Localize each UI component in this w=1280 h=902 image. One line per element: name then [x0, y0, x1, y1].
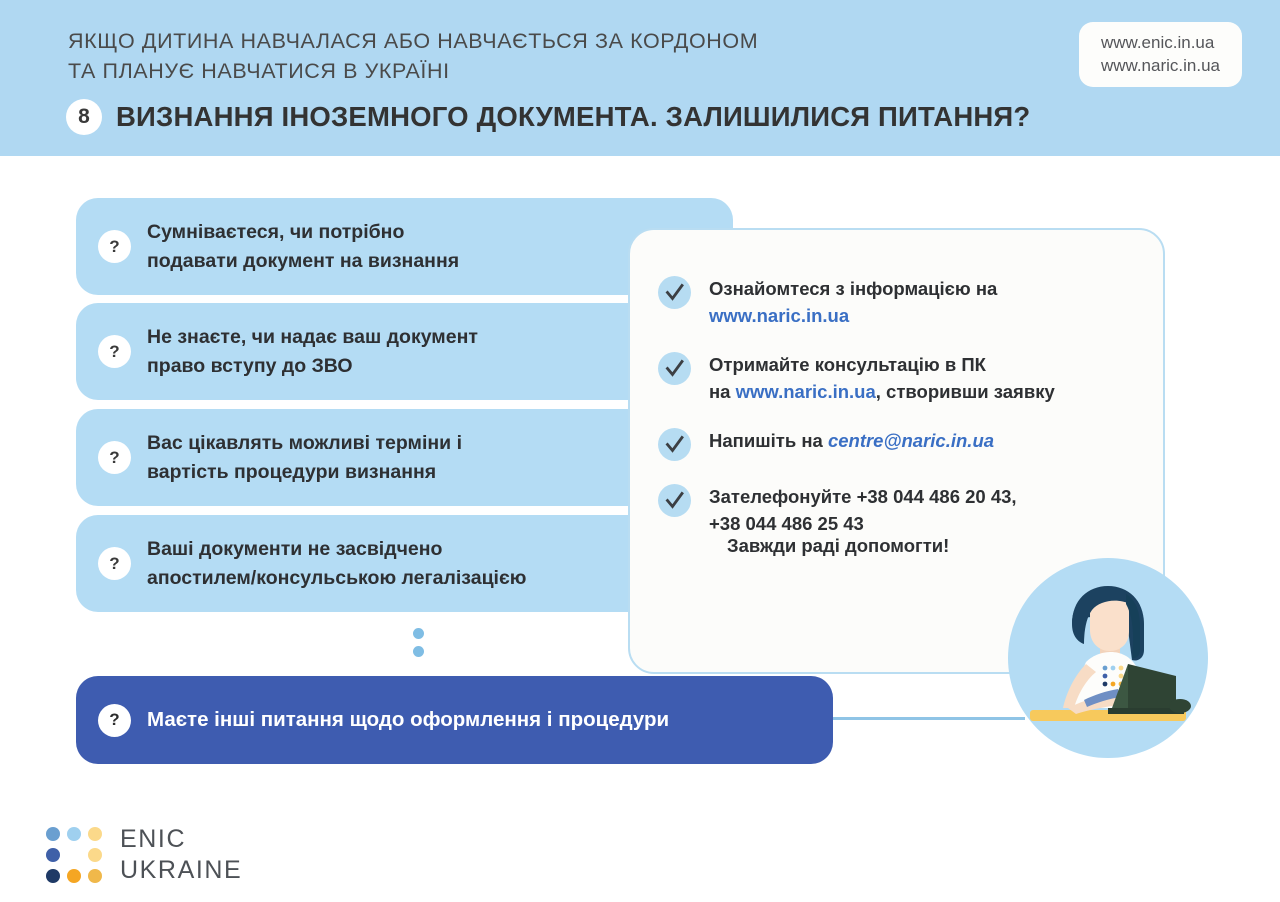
question-card-line-2: подавати документ на визнання [147, 247, 459, 276]
question-card-line-2: право вступу до ЗВО [147, 352, 478, 381]
question-card-line-1: Сумніваєтеся, чи потрібно [147, 218, 459, 247]
website-url-naric[interactable]: www.naric.in.ua [1101, 54, 1220, 77]
logo-dot [46, 827, 60, 841]
answer-item-text: Отримайте консультацію в ПК на www.naric… [709, 351, 1055, 405]
answer-list: Ознайомтеся з інформацією на www.naric.i… [658, 275, 1138, 559]
website-url-enic[interactable]: www.enic.in.ua [1101, 31, 1220, 54]
answer-item-text: Зателефонуйте +38 044 486 20 43, +38 044… [709, 483, 1017, 537]
answer-line-2-suffix: , створивши заявку [876, 381, 1055, 402]
logo-dot [88, 848, 102, 862]
logo-dot-grid-icon [46, 827, 102, 883]
answer-line-1: Зателефонуйте +38 044 486 20 43, [709, 483, 1017, 510]
question-mark-icon: ? [98, 441, 131, 474]
answer-link[interactable]: www.naric.in.ua [736, 381, 876, 402]
answer-link[interactable]: www.naric.in.ua [709, 305, 849, 326]
answer-item: Ознайомтеся з інформацією на www.naric.i… [658, 275, 1138, 329]
logo-dot [88, 827, 102, 841]
header-kicker-line-1: ЯКЩО ДИТИНА НАВЧАЛАСЯ АБО НАВЧАЄТЬСЯ ЗА … [68, 26, 968, 56]
logo-dot [67, 869, 81, 883]
answer-item: Зателефонуйте +38 044 486 20 43, +38 044… [658, 483, 1138, 537]
logo-text-line-2: UKRAINE [120, 855, 242, 886]
check-icon [658, 352, 691, 385]
question-mark-icon: ? [98, 230, 131, 263]
answer-line-2: на www.naric.in.ua, створивши заявку [709, 378, 1055, 405]
question-card-line-2: апостилем/консульською легалізацією [147, 564, 526, 593]
question-card-line-1: Не знаєте, чи надає ваш документ [147, 323, 478, 352]
check-icon [658, 484, 691, 517]
answer-item-text: Напишіть на centre@naric.in.ua [709, 427, 994, 454]
logo-dot [67, 827, 81, 841]
enic-ukraine-logo: ENIC UKRAINE [46, 824, 242, 886]
header-kicker: ЯКЩО ДИТИНА НАВЧАЛАСЯ АБО НАВЧАЄТЬСЯ ЗА … [68, 26, 968, 86]
logo-dot [67, 848, 81, 862]
highlighted-question-text: Маєте інші питання щодо оформлення і про… [147, 708, 669, 732]
ellipsis-dot-icon [413, 646, 424, 657]
title-row: 8 ВИЗНАННЯ ІНОЗЕМНОГО ДОКУМЕНТА. ЗАЛИШИЛ… [66, 99, 1030, 135]
logo-dot [46, 848, 60, 862]
closing-message: Завжди раді допомогти! [727, 535, 949, 557]
question-card-text: Вас цікавлять можливі терміни і вартість… [147, 429, 462, 487]
logo-dot [46, 869, 60, 883]
header-kicker-line-2: ТА ПЛАНУЄ НАВЧАТИСЯ В УКРАЇНІ [68, 56, 968, 86]
page-title: ВИЗНАННЯ ІНОЗЕМНОГО ДОКУМЕНТА. ЗАЛИШИЛИС… [116, 101, 1030, 133]
ellipsis-dot-icon [413, 628, 424, 639]
answer-item: Напишіть на centre@naric.in.ua [658, 427, 1138, 461]
website-badge[interactable]: www.enic.in.ua www.naric.in.ua [1079, 22, 1242, 87]
highlighted-question-card[interactable]: ? Маєте інші питання щодо оформлення і п… [76, 676, 833, 764]
question-card-text: Ваші документи не засвідчено апостилем/к… [147, 535, 526, 593]
infographic-page: ЯКЩО ДИТИНА НАВЧАЛАСЯ АБО НАВЧАЄТЬСЯ ЗА … [0, 0, 1280, 902]
logo-dot [88, 869, 102, 883]
woman-with-laptop-illustration [1008, 558, 1208, 758]
question-card-line-2: вартість процедури визнання [147, 458, 462, 487]
logo-text-line-1: ENIC [120, 824, 242, 855]
answer-line-1: Ознайомтеся з інформацією на [709, 275, 997, 302]
page-header: ЯКЩО ДИТИНА НАВЧАЛАСЯ АБО НАВЧАЄТЬСЯ ЗА … [0, 0, 1280, 156]
answer-line-1-prefix: Напишіть на [709, 430, 828, 451]
answer-line-1: Напишіть на centre@naric.in.ua [709, 427, 994, 454]
question-card-text: Сумніваєтеся, чи потрібно подавати докум… [147, 218, 459, 276]
check-icon [658, 276, 691, 309]
answer-item: Отримайте консультацію в ПК на www.naric… [658, 351, 1138, 405]
question-card-line-1: Ваші документи не засвідчено [147, 535, 526, 564]
answer-item-text: Ознайомтеся з інформацією на www.naric.i… [709, 275, 997, 329]
question-card-line-1: Вас цікавлять можливі терміни і [147, 429, 462, 458]
answer-line-2: www.naric.in.ua [709, 302, 997, 329]
question-card-text: Не знаєте, чи надає ваш документ право в… [147, 323, 478, 381]
answer-email-link[interactable]: centre@naric.in.ua [828, 430, 994, 451]
answer-line-2-prefix: на [709, 381, 736, 402]
question-mark-icon: ? [98, 547, 131, 580]
check-icon [658, 428, 691, 461]
connector-line [833, 717, 1025, 720]
logo-text: ENIC UKRAINE [120, 824, 242, 886]
step-number-badge: 8 [66, 99, 102, 135]
answer-line-2: +38 044 486 25 43 [709, 510, 1017, 537]
answer-line-1: Отримайте консультацію в ПК [709, 351, 1055, 378]
question-mark-icon: ? [98, 335, 131, 368]
question-mark-icon: ? [98, 704, 131, 737]
